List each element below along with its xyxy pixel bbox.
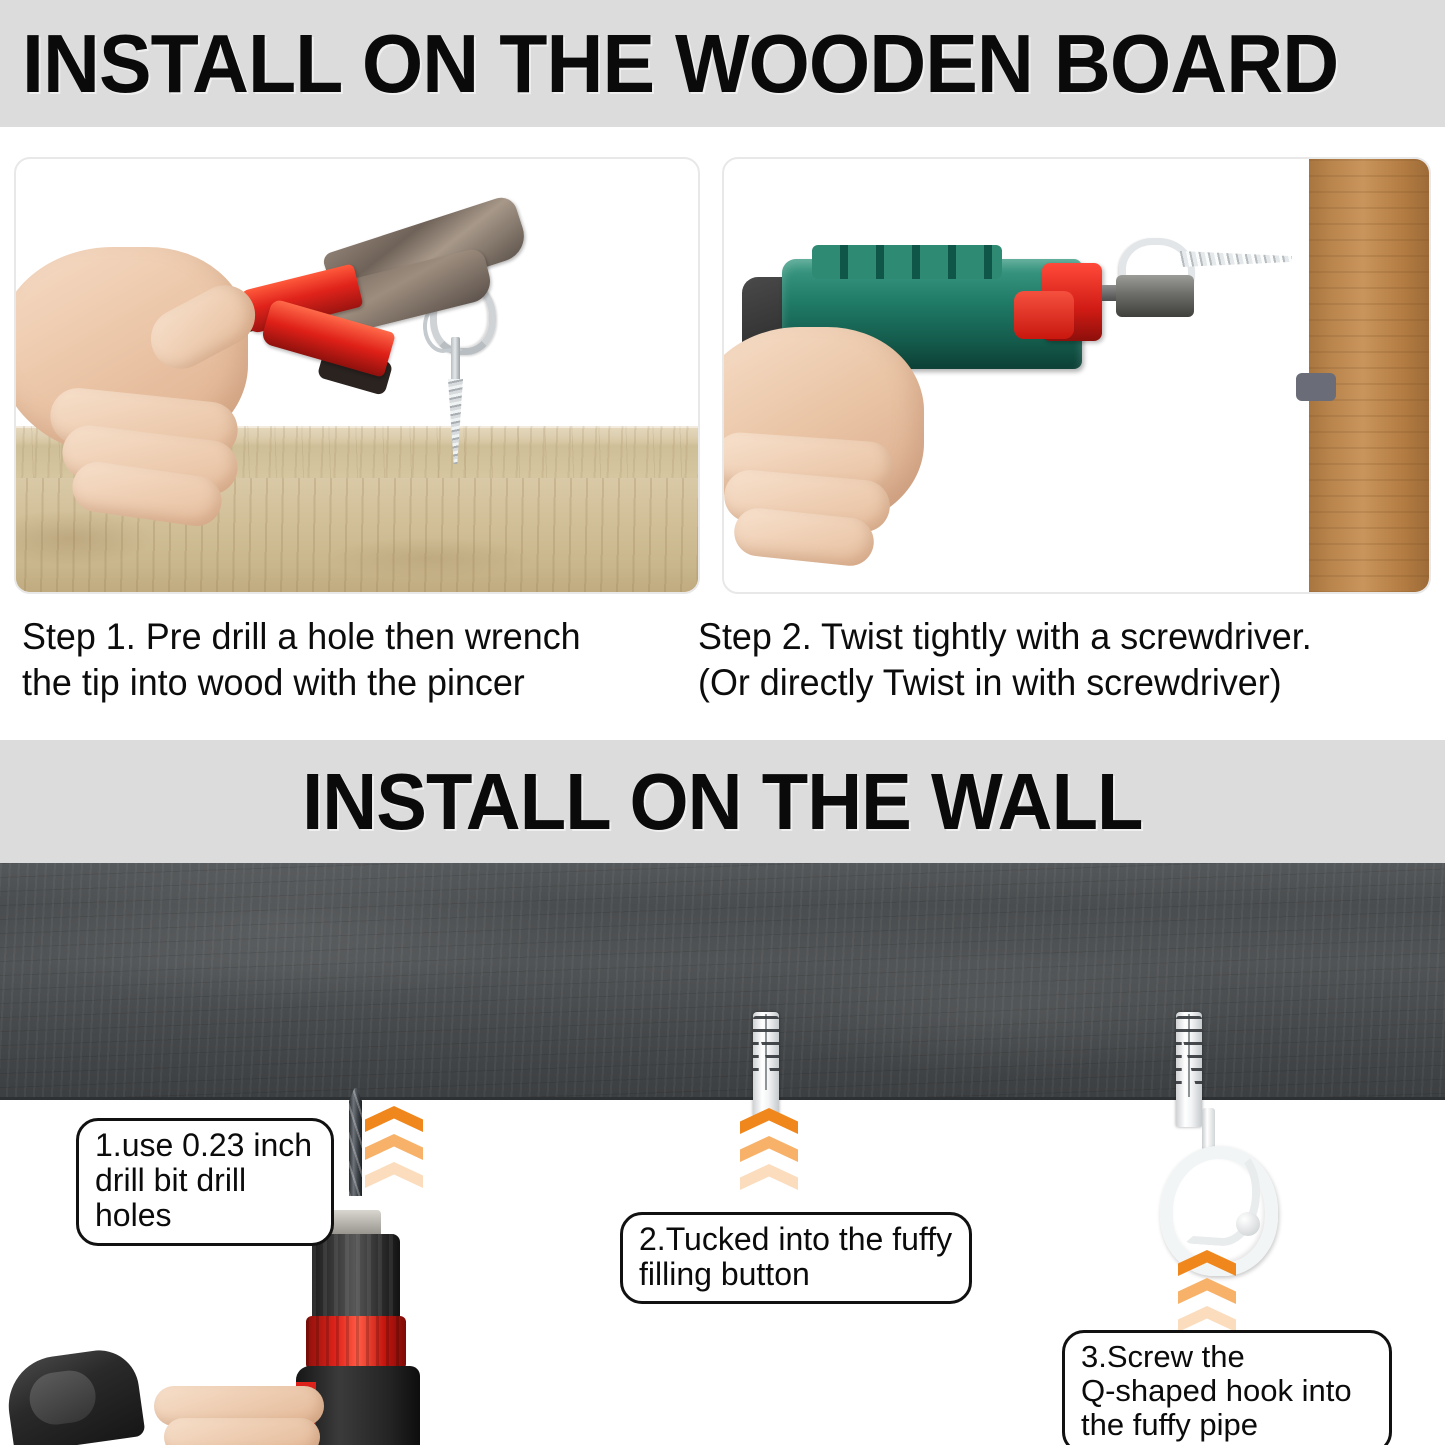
drill-bit	[349, 1088, 362, 1196]
chevron-up-icon	[740, 1164, 798, 1190]
heading-wall-text: INSTALL ON THE WALL	[302, 762, 1142, 842]
direction-switch	[1014, 291, 1074, 339]
screwdriver-chuck	[1102, 285, 1116, 301]
chevron-up-icon	[365, 1162, 423, 1188]
drill-torque-ring	[306, 1316, 406, 1370]
step-2-photo	[722, 157, 1431, 594]
hand-holding-screwdriver	[722, 327, 994, 594]
chevron-shape	[740, 1136, 798, 1162]
screwdriver-collar	[1116, 275, 1194, 317]
concrete-wall	[0, 863, 1445, 1100]
screwdriver-vents	[812, 245, 1002, 279]
drill-battery	[2, 1345, 145, 1445]
section-heading-wooden-board: INSTALL ON THE WOODEN BOARD	[0, 0, 1445, 127]
chevron-shape	[740, 1108, 798, 1134]
finger-2	[164, 1418, 320, 1445]
callout-step-1: 1.use 0.23 inch drill bit drill holes	[76, 1118, 334, 1246]
wall-anchor-plug-middle	[753, 1012, 779, 1117]
chevron-shape	[1178, 1250, 1236, 1276]
chevron-shape	[740, 1164, 798, 1190]
chevron-arrows-up-2	[740, 1108, 798, 1212]
heading-wooden-board-text: INSTALL ON THE WOODEN BOARD	[22, 22, 1338, 105]
anchor-split	[1188, 1014, 1190, 1097]
chevron-shape	[1178, 1306, 1236, 1332]
chevron-up-icon	[1178, 1306, 1236, 1332]
chevron-shape	[1178, 1278, 1236, 1304]
callout-step-3: 3.Screw the Q-shaped hook into the fuffy…	[1062, 1330, 1392, 1445]
chevron-up-icon	[740, 1108, 798, 1134]
step-2-caption: Step 2. Twist tightly with a screwdriver…	[698, 614, 1416, 707]
hook-gate-nub	[1236, 1212, 1260, 1236]
q-shaped-hook-installed	[1152, 1108, 1272, 1268]
hook-thread	[1180, 251, 1292, 267]
step-1-caption: Step 1. Pre drill a hole then wrench the…	[22, 614, 662, 707]
chevron-up-icon	[1178, 1250, 1236, 1276]
chevron-arrows-up-1	[365, 1106, 423, 1210]
callout-step-2: 2.Tucked into the fuffy filling button	[620, 1212, 972, 1304]
pliers-hole	[551, 203, 577, 227]
chevron-up-icon	[365, 1134, 423, 1160]
chevron-shape	[365, 1134, 423, 1160]
direction-switch-inner	[1296, 373, 1336, 401]
chevron-up-icon	[740, 1136, 798, 1162]
hand-holding-pliers	[14, 237, 328, 527]
step-captions: Step 1. Pre drill a hole then wrench the…	[0, 614, 1445, 740]
anchor-split	[765, 1014, 767, 1090]
chevron-up-icon	[1178, 1278, 1236, 1304]
chevron-shape	[365, 1106, 423, 1132]
section-heading-wall: INSTALL ON THE WALL	[0, 740, 1445, 863]
step-photo-panels	[0, 129, 1445, 614]
chevron-up-icon	[365, 1106, 423, 1132]
chevron-shape	[365, 1162, 423, 1188]
step-1-photo	[14, 157, 700, 594]
hand-holding-drill	[150, 1382, 340, 1445]
infographic-page: INSTALL ON THE WOODEN BOARD	[0, 0, 1445, 1445]
